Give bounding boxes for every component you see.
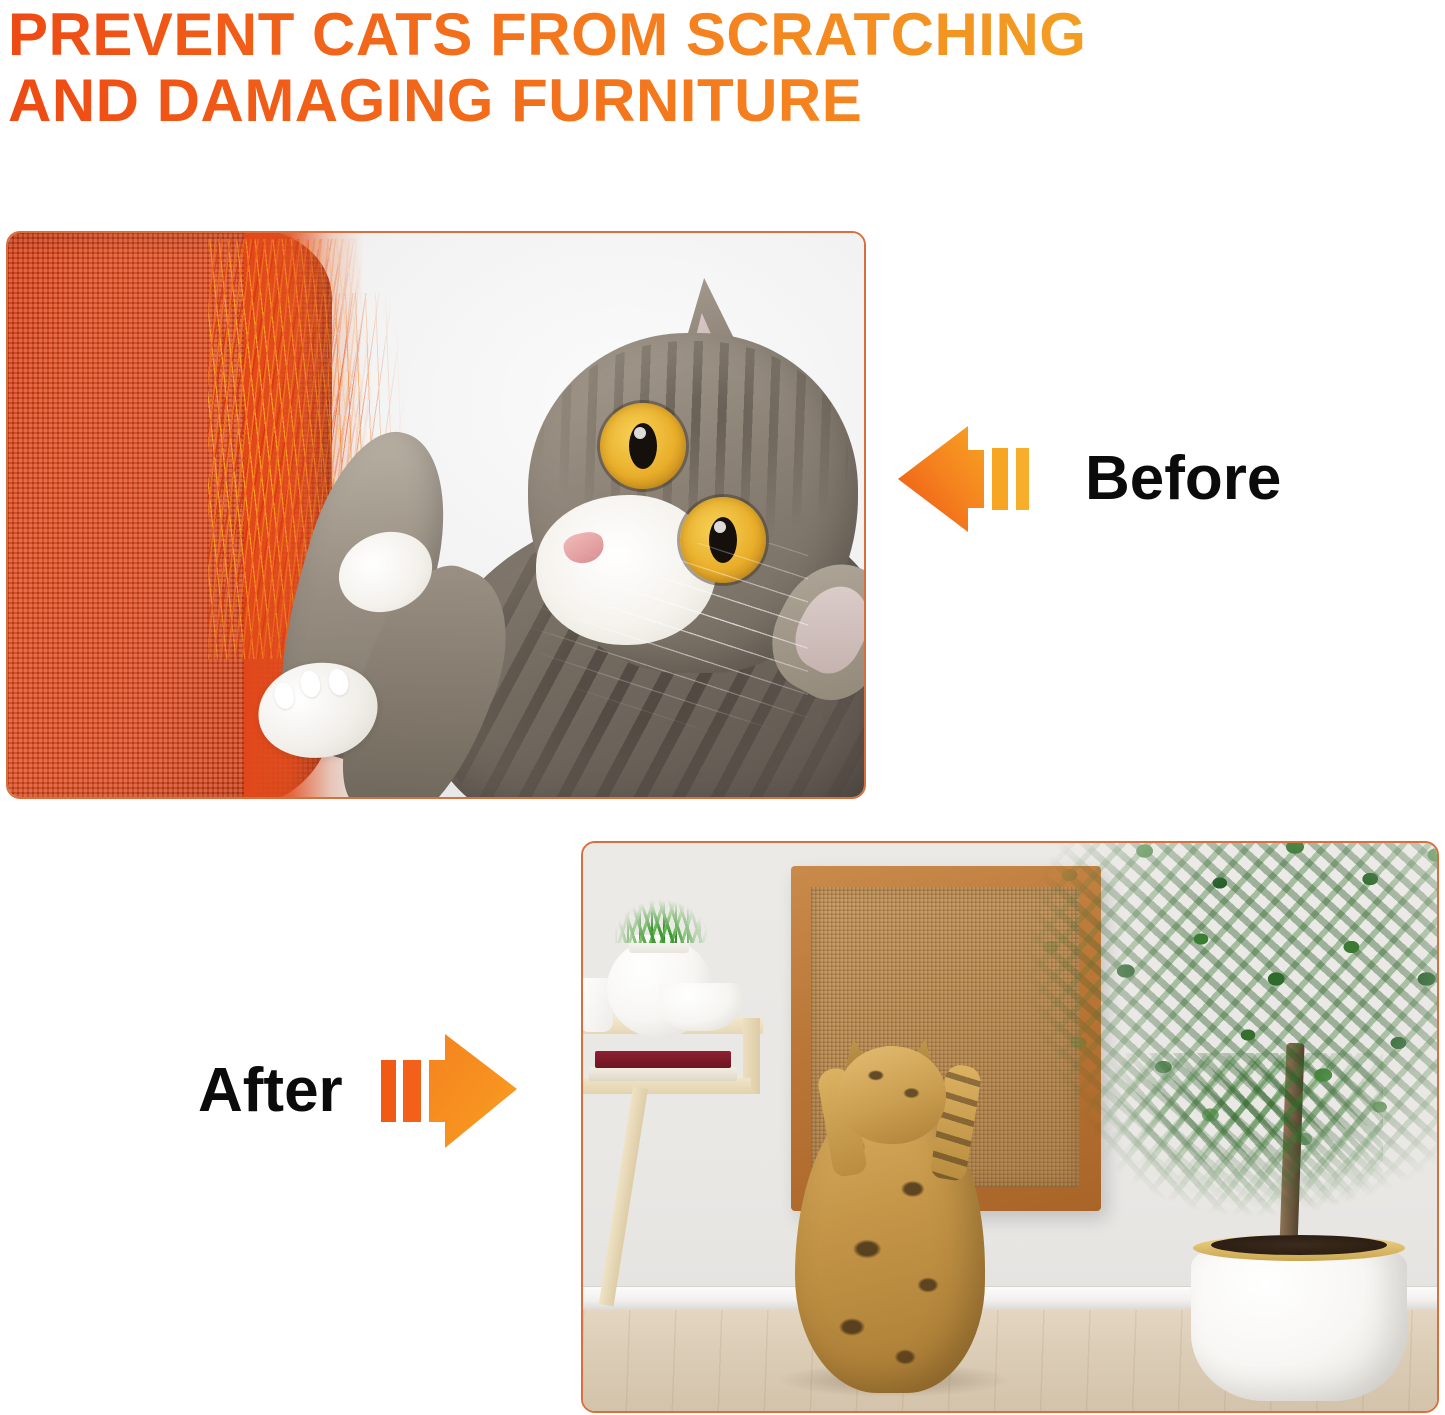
headline-block: PREVENT CATS FROM SCRATCHING AND DAMAGIN… [8, 2, 1438, 134]
small-green-plant [615, 885, 707, 943]
cat-eye-left [600, 403, 686, 489]
before-photo-scene [8, 233, 864, 797]
arrow-left-icon [896, 424, 1031, 534]
after-photo [581, 841, 1439, 1413]
cat-whiskers [478, 543, 808, 773]
cat-eye-glint-right [714, 521, 726, 533]
after-marker: After [198, 1032, 519, 1150]
before-marker: Before [896, 424, 1281, 534]
book-lower [589, 1067, 737, 1081]
white-bowl [659, 983, 741, 1031]
headline-line-2: AND DAMAGING FURNITURE [8, 68, 1438, 134]
before-label: Before [1085, 448, 1281, 510]
planter-soil [1211, 1235, 1387, 1255]
after-label: After [198, 1060, 343, 1122]
cat-eye-glint-left [634, 427, 646, 439]
white-planter-pot [1191, 1241, 1407, 1401]
headline-line-1: PREVENT CATS FROM SCRATCHING [8, 2, 1438, 68]
before-photo [6, 231, 866, 799]
arrow-right-icon [379, 1032, 519, 1150]
bengal-cat-head [838, 1046, 946, 1144]
after-photo-scene [583, 843, 1437, 1411]
book-upper-red [595, 1051, 731, 1068]
ficus-tree-canopy [1013, 843, 1437, 1219]
